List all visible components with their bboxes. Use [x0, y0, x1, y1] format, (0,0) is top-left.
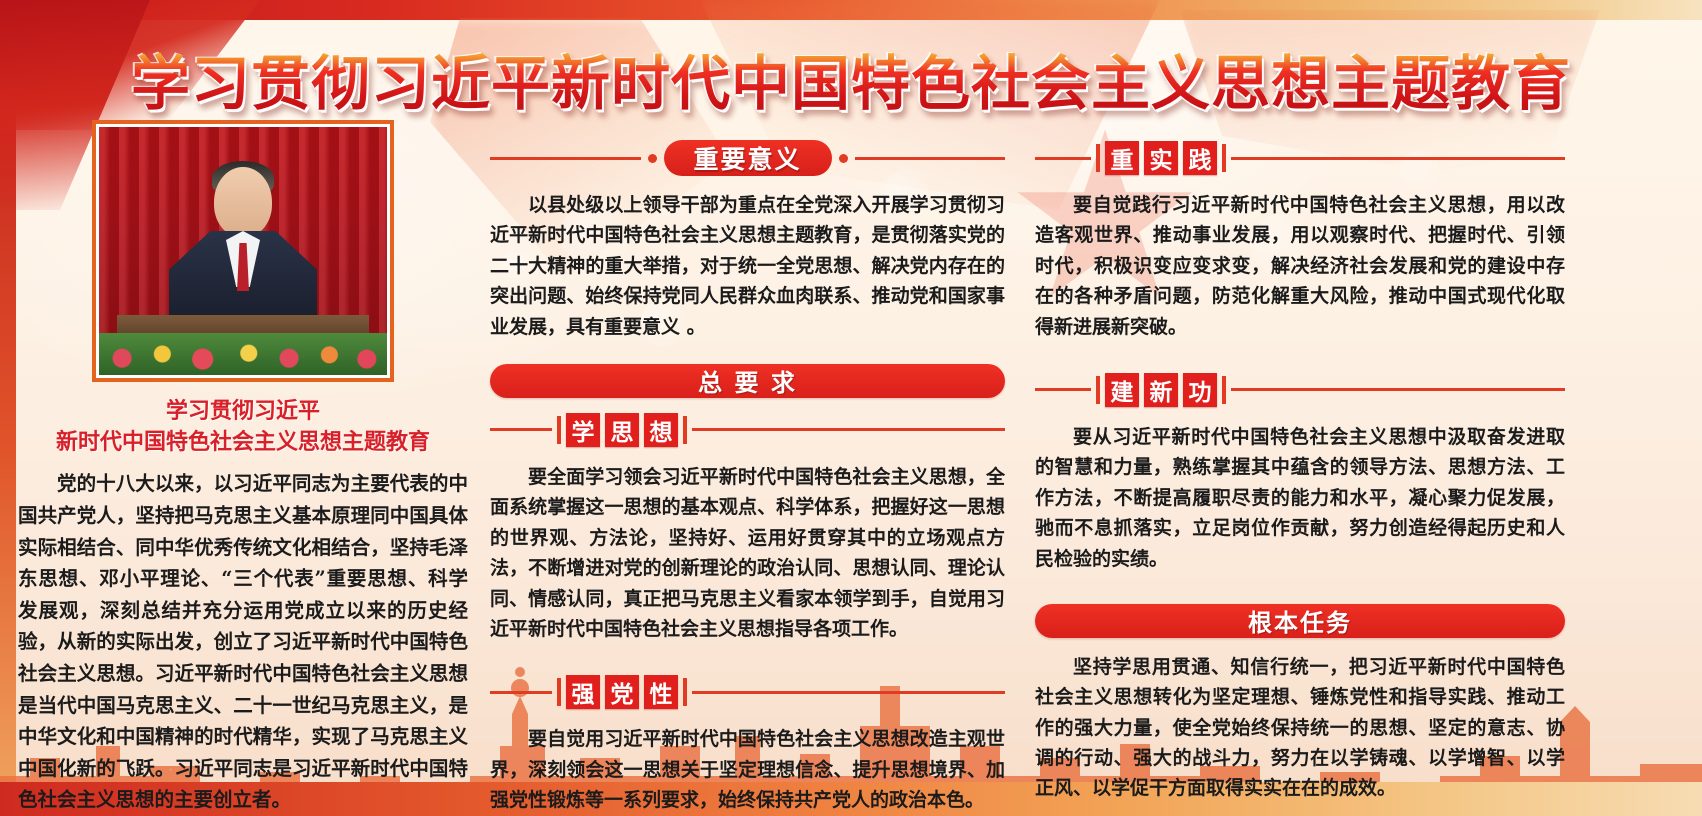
heading-rule-left — [1035, 388, 1091, 391]
heading-tick-right — [683, 678, 687, 706]
heading-fundamental-task-label: 根本任务 — [1248, 603, 1352, 638]
photo-caption-line-1: 学习贯彻习近平 — [18, 396, 468, 427]
page-title: 学习贯彻习近平新时代中国特色社会主义思想主题教育 — [131, 36, 1571, 121]
heading-tick-right — [683, 416, 687, 444]
left-column: 学习贯彻习近平 新时代中国特色社会主义思想主题教育 党的十八大以来，以习近平同志… — [18, 120, 468, 816]
heading-char-box: 党 — [605, 675, 639, 709]
heading-rule-left — [490, 691, 552, 694]
leader-photo — [99, 127, 387, 375]
heading-dot-right — [839, 154, 848, 163]
heading-char-box: 思 — [605, 413, 639, 447]
heading-build-new-merits-chars: 建 新 功 — [1105, 373, 1217, 407]
importance-body-text: 以县处级以上领导干部为重点在全党深入开展学习贯彻习近平新时代中国特色社会主义思想… — [490, 190, 1005, 342]
heading-char-box: 新 — [1144, 373, 1178, 407]
heading-emphasize-practice: 重 实 践 — [1035, 140, 1565, 176]
right-column: 重 实 践 要自觉践行习近平新时代中国特色社会主义思想，用以改造客观世界、推动事… — [1035, 140, 1565, 804]
heading-strengthen-party-spirit-chars: 强 党 性 — [566, 675, 678, 709]
flower-arrangement — [99, 333, 387, 375]
left-column-body-text: 党的十八大以来，以习近平同志为主要代表的中国共产党人，坚持把马克思主义基本原理同… — [18, 468, 468, 815]
heading-tick-right — [1222, 376, 1226, 404]
poster-canvas: · · · · · 学习贯彻习近平新时代中国特色社会主义思想主题教育 学习贯彻习… — [0, 0, 1702, 816]
portrait-head — [214, 167, 272, 237]
heading-study-thought-chars: 学 思 想 — [566, 413, 678, 447]
heading-rule-right — [1231, 388, 1565, 391]
heading-rule-left — [490, 157, 641, 160]
heading-char-box: 想 — [644, 413, 678, 447]
heading-rule-right — [1231, 157, 1565, 160]
fundamental-task-body-text: 坚持学思用贯通、知信行统一，把习近平新时代中国特色社会主义思想转化为坚定理想、锤… — [1035, 652, 1565, 804]
heading-build-new-merits: 建 新 功 — [1035, 372, 1565, 408]
photo-caption-line-2: 新时代中国特色社会主义思想主题教育 — [18, 427, 468, 458]
heading-importance-pill: 重要意义 — [664, 140, 832, 176]
study-thought-body-text: 要全面学习领会习近平新时代中国特色社会主义思想，全面系统掌握这一思想的基本观点、… — [490, 462, 1005, 644]
heading-fundamental-task: 根本任务 — [1035, 604, 1565, 638]
heading-dot-left — [648, 154, 657, 163]
middle-column: 重要意义 以县处级以上领导干部为重点在全党深入开展学习贯彻习近平新时代中国特色社… — [490, 140, 1005, 815]
photo-caption: 学习贯彻习近平 新时代中国特色社会主义思想主题教育 — [18, 396, 468, 458]
heading-tick-left — [557, 416, 561, 444]
heading-rule-right — [855, 157, 1006, 160]
heading-char-box: 学 — [566, 413, 600, 447]
heading-char-box: 建 — [1105, 373, 1139, 407]
leader-photo-frame — [92, 120, 394, 382]
heading-char-box: 功 — [1183, 373, 1217, 407]
heading-tick-left — [557, 678, 561, 706]
heading-importance: 重要意义 — [490, 140, 1005, 176]
heading-tick-left — [1096, 376, 1100, 404]
heading-study-thought: 学 思 想 — [490, 412, 1005, 448]
emphasize-practice-body-text: 要自觉践行习近平新时代中国特色社会主义思想，用以改造客观世界、推动事业发展，用以… — [1035, 190, 1565, 342]
heading-char-box: 实 — [1144, 141, 1178, 175]
heading-tick-left — [1096, 144, 1100, 172]
heading-emphasize-practice-chars: 重 实 践 — [1105, 141, 1217, 175]
heading-char-box: 重 — [1105, 141, 1139, 175]
heading-char-box: 强 — [566, 675, 600, 709]
strengthen-party-spirit-body-text: 要自觉用习近平新时代中国特色社会主义思想改造主观世界，深刻领会这一思想关于坚定理… — [490, 724, 1005, 815]
heading-tick-right — [1222, 144, 1226, 172]
heading-rule-right — [692, 428, 1005, 431]
heading-char-box: 性 — [644, 675, 678, 709]
heading-general-requirements: 总 要 求 — [490, 364, 1005, 398]
heading-rule-right — [692, 691, 1005, 694]
heading-general-requirements-label: 总 要 求 — [698, 363, 797, 398]
main-title-wrap: 学习贯彻习近平新时代中国特色社会主义思想主题教育 — [0, 36, 1702, 121]
heading-rule-left — [490, 428, 552, 431]
build-new-merits-body-text: 要从习近平新时代中国特色社会主义思想中汲取奋发进取的智慧和力量，熟练掌握其中蕴含… — [1035, 422, 1565, 574]
heading-importance-label: 重要意义 — [693, 140, 801, 176]
heading-char-box: 践 — [1183, 141, 1217, 175]
heading-rule-left — [1035, 157, 1091, 160]
heading-strengthen-party-spirit: 强 党 性 — [490, 674, 1005, 710]
